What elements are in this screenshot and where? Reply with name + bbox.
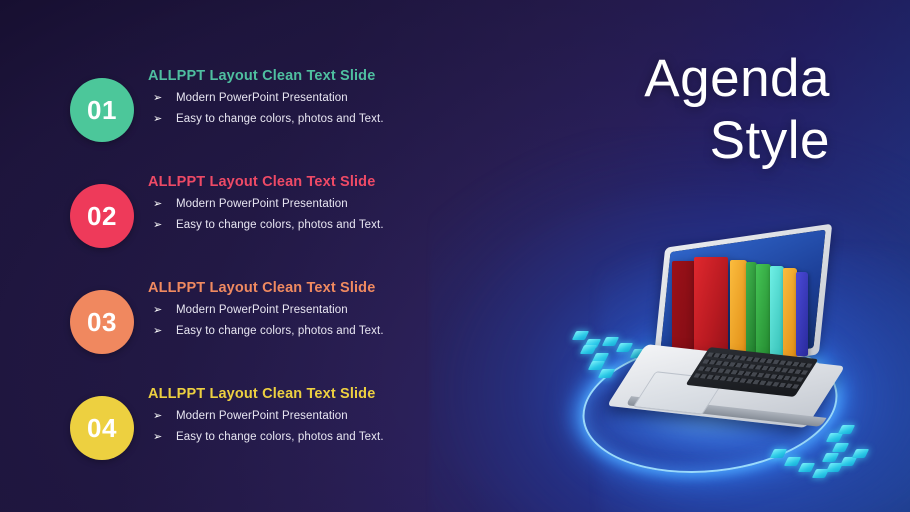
arrow-bullet-icon: ➢ <box>153 197 162 211</box>
pixel-accent-icon <box>798 463 815 472</box>
laptop-icon <box>620 235 850 435</box>
agenda-heading-01: ALLPPT Layout Clean Text Slide <box>148 68 468 84</box>
pixel-accent-icon <box>572 331 589 340</box>
agenda-bullet-02-1: ➢ Modern PowerPoint Presentation <box>148 198 468 210</box>
agenda-heading-04: ALLPPT Layout Clean Text Slide <box>148 386 468 402</box>
pixel-accent-icon <box>840 457 857 466</box>
agenda-bullets-04: ➢ Modern PowerPoint Presentation ➢ Easy … <box>148 410 468 443</box>
agenda-bullet-03-2: ➢ Easy to change colors, photos and Text… <box>148 325 468 337</box>
pixel-accent-icon <box>852 449 869 458</box>
arrow-bullet-icon: ➢ <box>153 409 162 423</box>
book-icon <box>783 268 797 358</box>
agenda-number-badge-01: 01 <box>70 78 134 142</box>
pixel-accent-icon <box>602 337 619 346</box>
pixel-accent-icon <box>580 345 597 354</box>
agenda-item-04[interactable]: 04 ALLPPT Layout Clean Text Slide ➢ Mode… <box>70 378 470 478</box>
agenda-number-03: 03 <box>87 307 117 338</box>
agenda-bullet-text: Modern PowerPoint Presentation <box>176 410 348 422</box>
book-icon <box>756 264 771 358</box>
slide-canvas: Agenda Style 01 ALLPPT Layout Clean Text… <box>0 0 910 512</box>
agenda-bullet-01-2: ➢ Easy to change colors, photos and Text… <box>148 113 468 125</box>
agenda-number-01: 01 <box>87 95 117 126</box>
agenda-item-02[interactable]: 02 ALLPPT Layout Clean Text Slide ➢ Mode… <box>70 166 470 266</box>
arrow-bullet-icon: ➢ <box>153 218 162 232</box>
agenda-item-body-02: ALLPPT Layout Clean Text Slide ➢ Modern … <box>148 166 468 231</box>
agenda-bullet-03-1: ➢ Modern PowerPoint Presentation <box>148 304 468 316</box>
agenda-bullet-text: Easy to change colors, photos and Text. <box>176 219 384 231</box>
page-title: Agenda Style <box>644 52 830 168</box>
agenda-heading-02: ALLPPT Layout Clean Text Slide <box>148 174 468 190</box>
agenda-number-badge-03: 03 <box>70 290 134 354</box>
agenda-bullet-text: Easy to change colors, photos and Text. <box>176 325 384 337</box>
agenda-number-02: 02 <box>87 201 117 232</box>
laptop-books-illustration <box>560 235 910 510</box>
agenda-list: 01 ALLPPT Layout Clean Text Slide ➢ Mode… <box>0 0 470 512</box>
book-icon <box>730 260 747 358</box>
agenda-bullet-text: Modern PowerPoint Presentation <box>176 92 348 104</box>
agenda-item-body-01: ALLPPT Layout Clean Text Slide ➢ Modern … <box>148 60 468 125</box>
agenda-bullets-03: ➢ Modern PowerPoint Presentation ➢ Easy … <box>148 304 468 337</box>
pixel-accent-icon <box>822 453 839 462</box>
agenda-bullet-text: Modern PowerPoint Presentation <box>176 198 348 210</box>
arrow-bullet-icon: ➢ <box>153 324 162 338</box>
pixel-accent-icon <box>826 433 843 442</box>
book-icon <box>796 272 808 356</box>
agenda-bullet-text: Modern PowerPoint Presentation <box>176 304 348 316</box>
title-line-2: Style <box>644 114 830 168</box>
book-icon <box>770 266 784 358</box>
title-line-1: Agenda <box>644 52 830 106</box>
agenda-number-badge-04: 04 <box>70 396 134 460</box>
arrow-bullet-icon: ➢ <box>153 430 162 444</box>
agenda-number-badge-02: 02 <box>70 184 134 248</box>
agenda-bullet-text: Easy to change colors, photos and Text. <box>176 113 384 125</box>
agenda-bullet-text: Easy to change colors, photos and Text. <box>176 431 384 443</box>
agenda-item-01[interactable]: 01 ALLPPT Layout Clean Text Slide ➢ Mode… <box>70 60 470 160</box>
agenda-item-body-04: ALLPPT Layout Clean Text Slide ➢ Modern … <box>148 378 468 443</box>
pixel-accent-icon <box>784 457 801 466</box>
agenda-bullets-02: ➢ Modern PowerPoint Presentation ➢ Easy … <box>148 198 468 231</box>
agenda-item-body-03: ALLPPT Layout Clean Text Slide ➢ Modern … <box>148 272 468 337</box>
arrow-bullet-icon: ➢ <box>153 303 162 317</box>
arrow-bullet-icon: ➢ <box>153 112 162 126</box>
agenda-number-04: 04 <box>87 413 117 444</box>
agenda-bullet-01-1: ➢ Modern PowerPoint Presentation <box>148 92 468 104</box>
pixel-accent-icon <box>832 443 849 452</box>
agenda-bullet-04-1: ➢ Modern PowerPoint Presentation <box>148 410 468 422</box>
agenda-bullet-04-2: ➢ Easy to change colors, photos and Text… <box>148 431 468 443</box>
pixel-accent-icon <box>838 425 855 434</box>
agenda-item-03[interactable]: 03 ALLPPT Layout Clean Text Slide ➢ Mode… <box>70 272 470 372</box>
agenda-bullet-02-2: ➢ Easy to change colors, photos and Text… <box>148 219 468 231</box>
agenda-bullets-01: ➢ Modern PowerPoint Presentation ➢ Easy … <box>148 92 468 125</box>
agenda-heading-03: ALLPPT Layout Clean Text Slide <box>148 280 468 296</box>
arrow-bullet-icon: ➢ <box>153 91 162 105</box>
